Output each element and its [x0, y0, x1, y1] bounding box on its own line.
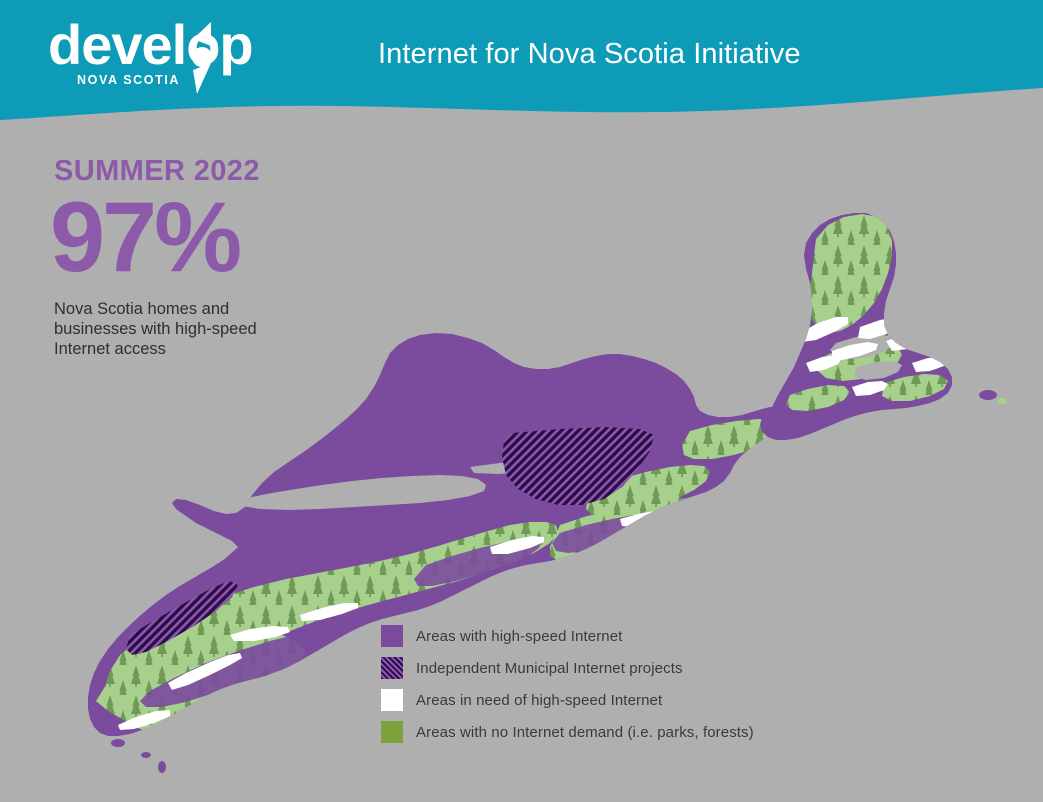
page-title: Internet for Nova Scotia Initiative	[378, 38, 801, 71]
develop-nova-scotia-logo[interactable]: develop NOVA SCOTIA	[48, 16, 263, 90]
stat-percentage-value: 97%	[50, 191, 324, 283]
statistics-block: SUMMER 2022 97% Nova Scotia homes and bu…	[54, 155, 324, 359]
stat-description: Nova Scotia homes and businesses with hi…	[54, 299, 279, 359]
legend-label-no-demand: Areas with no Internet demand (i.e. park…	[416, 724, 754, 741]
green-swatch-icon	[381, 721, 403, 743]
logo-wordmark: develop	[48, 16, 253, 74]
white-swatch-icon	[381, 689, 403, 711]
hatched-swatch-icon	[381, 657, 403, 679]
purple-swatch-icon	[381, 625, 403, 647]
legend-item-high-speed: Areas with high-speed Internet	[381, 620, 754, 652]
legend-item-municipal-projects: Independent Municipal Internet projects	[381, 652, 754, 684]
map-legend: Areas with high-speed Internet Independe…	[381, 620, 754, 748]
location-pin-icon	[187, 22, 217, 96]
legend-item-no-demand: Areas with no Internet demand (i.e. park…	[381, 716, 754, 748]
legend-item-in-need: Areas in need of high-speed Internet	[381, 684, 754, 716]
logo-subtitle: NOVA SCOTIA	[77, 73, 180, 87]
infographic-page: develop NOVA SCOTIA Internet for Nova Sc…	[0, 0, 1043, 802]
legend-label-municipal-projects: Independent Municipal Internet projects	[416, 660, 683, 677]
legend-label-high-speed: Areas with high-speed Internet	[416, 628, 622, 645]
legend-label-in-need: Areas in need of high-speed Internet	[416, 692, 662, 709]
